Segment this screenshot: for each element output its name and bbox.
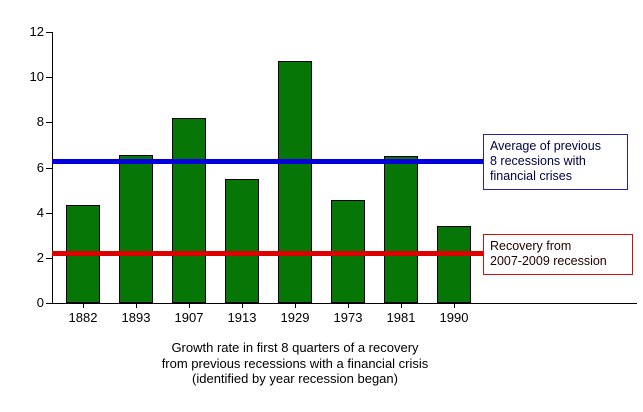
y-axis-tick <box>46 32 52 33</box>
reference-line-average-previous-recessions <box>52 159 482 164</box>
bar-1981 <box>384 156 418 303</box>
x-axis-tick-label-1907: 1907 <box>163 311 215 325</box>
x-axis-tick <box>242 303 243 308</box>
y-axis-tick-label-wrap: 6 <box>16 161 44 174</box>
bar-chart: 0246810121882189319071913192919731981199… <box>0 0 643 412</box>
bar-1929 <box>278 61 312 303</box>
recovery-2007-2009-callout: Recovery from 2007-2009 recession <box>483 234 633 275</box>
caption-line: Growth rate in first 8 quarters of a rec… <box>0 340 590 356</box>
y-axis-tick <box>46 303 52 304</box>
recovery-line-connector <box>470 251 484 256</box>
average-recessions-callout: Average of previous 8 recessions with fi… <box>483 134 628 190</box>
x-axis-tick-label-1929: 1929 <box>269 311 321 325</box>
y-axis-tick-label-wrap: 0 <box>16 296 44 309</box>
x-axis-tick <box>348 303 349 308</box>
x-axis-tick-label-1981: 1981 <box>375 311 427 325</box>
chart-caption: Growth rate in first 8 quarters of a rec… <box>0 340 590 387</box>
reference-line-recovery-2007-2009 <box>52 251 482 256</box>
x-axis-tick <box>401 303 402 308</box>
x-axis-tick <box>83 303 84 308</box>
bar-1893 <box>119 155 153 303</box>
x-axis-tick <box>295 303 296 308</box>
x-axis-tick <box>454 303 455 308</box>
bar-1913 <box>225 179 259 303</box>
x-axis-tick-label-1893: 1893 <box>110 311 162 325</box>
y-axis-tick <box>46 77 52 78</box>
x-axis-tick <box>136 303 137 308</box>
bar-1990 <box>437 226 471 303</box>
y-axis-tick-label: 6 <box>22 161 44 174</box>
caption-line: from previous recessions with a financia… <box>0 356 590 372</box>
x-axis-tick-label-1913: 1913 <box>216 311 268 325</box>
y-axis-tick-label-wrap: 12 <box>16 25 44 38</box>
x-axis-tick-label-1973: 1973 <box>322 311 374 325</box>
y-axis-tick-label-wrap: 4 <box>16 206 44 219</box>
y-axis-tick-label-wrap: 10 <box>16 70 44 83</box>
y-axis-tick-label: 2 <box>22 251 44 264</box>
y-axis-tick-label: 8 <box>22 115 44 128</box>
y-axis-tick-label: 10 <box>22 70 44 83</box>
caption-line: (identified by year recession began) <box>0 371 590 387</box>
y-axis-tick-label: 0 <box>22 296 44 309</box>
x-axis-tick-label-1990: 1990 <box>428 311 480 325</box>
y-axis-tick-label: 4 <box>22 206 44 219</box>
y-axis-tick <box>46 213 52 214</box>
y-axis-tick-label-wrap: 2 <box>16 251 44 264</box>
x-axis-line <box>52 303 637 304</box>
x-axis-tick-label-1882: 1882 <box>57 311 109 325</box>
y-axis-line <box>52 32 53 304</box>
average-line-connector <box>470 159 484 164</box>
y-axis-tick <box>46 168 52 169</box>
y-axis-tick-label: 12 <box>22 25 44 38</box>
bar-1907 <box>172 118 206 303</box>
x-axis-tick <box>189 303 190 308</box>
y-axis-tick-label-wrap: 8 <box>16 115 44 128</box>
y-axis-tick <box>46 258 52 259</box>
y-axis-tick <box>46 122 52 123</box>
